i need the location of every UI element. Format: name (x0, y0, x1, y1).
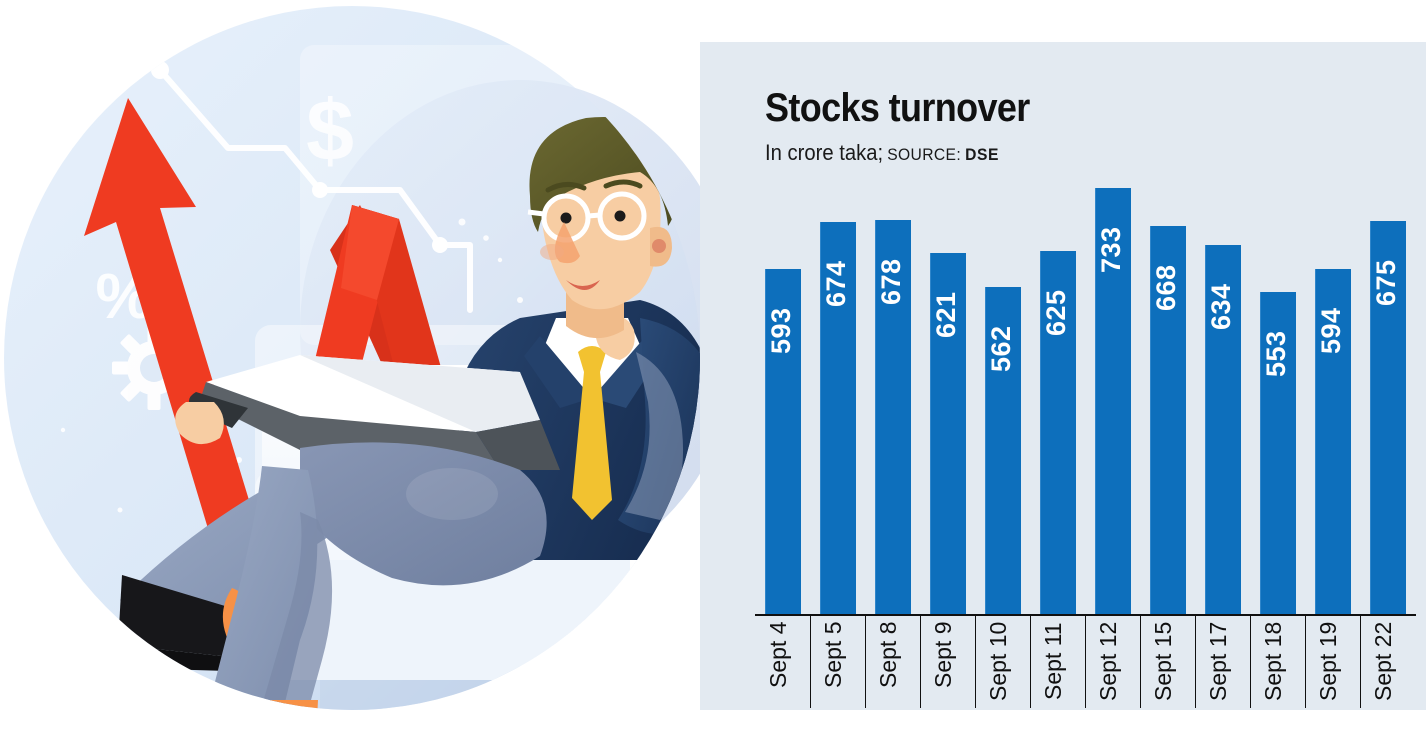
x-tick-separator (1085, 616, 1086, 708)
bar-slot: 621 (930, 172, 966, 614)
bar-value-label: 621 (931, 265, 967, 365)
x-tick-separator (810, 616, 811, 708)
x-tick-label: Sept 11 (1040, 622, 1076, 752)
bar-value-label: 553 (1261, 304, 1297, 404)
bar-slot: 625 (1040, 172, 1076, 614)
bar-slot: 553 (1260, 172, 1296, 614)
bar-sept-12[interactable]: 733 (1095, 188, 1131, 614)
bar-value-label: 674 (821, 234, 857, 334)
x-tick-separator (1360, 616, 1361, 708)
bar-sept-4[interactable]: 593 (765, 269, 801, 614)
bar-value-label: 675 (1371, 233, 1407, 333)
x-tick-label: Sept 15 (1150, 622, 1186, 752)
bar-sept-22[interactable]: 675 (1370, 221, 1406, 614)
bar-sept-5[interactable]: 674 (820, 222, 856, 614)
x-tick-label: Sept 12 (1095, 622, 1131, 752)
bar-sept-19[interactable]: 594 (1315, 269, 1351, 614)
page-title: Stocks turnover (765, 86, 1030, 131)
x-tick-separator (1305, 616, 1306, 708)
bar-value-label: 593 (766, 281, 802, 381)
bar-value-label: 733 (1096, 200, 1132, 300)
bar-sept-8[interactable]: 678 (875, 220, 911, 614)
bar-sept-11[interactable]: 625 (1040, 251, 1076, 614)
x-axis-tick-group: Sept 4Sept 5Sept 8Sept 9Sept 10Sept 11Se… (755, 616, 1416, 752)
stocks-turnover-chart-panel: Stocks turnover In crore taka; SOURCE: D… (700, 42, 1426, 710)
bar-value-label: 625 (1041, 263, 1077, 363)
x-tick-separator (1140, 616, 1141, 708)
x-tick-separator (1250, 616, 1251, 708)
infographic-root: $ % (0, 0, 1426, 755)
bar-chart-plot-area: 593674678621562625733668634553594675 (755, 172, 1415, 614)
x-tick-label: Sept 22 (1370, 622, 1406, 752)
bar-sept-18[interactable]: 553 (1260, 292, 1296, 614)
bar-slot: 675 (1370, 172, 1406, 614)
x-tick-label: Sept 4 (765, 622, 801, 752)
bar-slot: 674 (820, 172, 856, 614)
bar-sept-15[interactable]: 668 (1150, 226, 1186, 614)
bar-value-label: 668 (1151, 238, 1187, 338)
x-tick-separator (975, 616, 976, 708)
bar-sept-17[interactable]: 634 (1205, 245, 1241, 614)
bar-slot: 594 (1315, 172, 1351, 614)
bar-slot: 678 (875, 172, 911, 614)
x-tick-separator (920, 616, 921, 708)
x-tick-label: Sept 10 (985, 622, 1021, 752)
bar-slot: 593 (765, 172, 801, 614)
x-tick-separator (1030, 616, 1031, 708)
bar-slot: 634 (1205, 172, 1241, 614)
bar-value-label: 634 (1206, 257, 1242, 357)
x-tick-separator (865, 616, 866, 708)
subtitle-units: In crore taka; (765, 140, 883, 165)
chart-subtitle: In crore taka; SOURCE: DSE (765, 140, 999, 166)
bar-slot: 668 (1150, 172, 1186, 614)
subtitle-source-value: DSE (965, 145, 999, 164)
bar-value-label: 594 (1316, 281, 1352, 381)
x-tick-label: Sept 9 (930, 622, 966, 752)
bar-sept-10[interactable]: 562 (985, 287, 1021, 614)
x-tick-separator (1195, 616, 1196, 708)
x-tick-label: Sept 8 (875, 622, 911, 752)
illustration-svg: $ % (0, 0, 760, 755)
bar-slot: 733 (1095, 172, 1131, 614)
svg-text:$: $ (306, 83, 354, 179)
bar-slot: 562 (985, 172, 1021, 614)
bar-sept-9[interactable]: 621 (930, 253, 966, 614)
subtitle-source-label: SOURCE: (887, 145, 961, 164)
dollar-icon: $ (306, 83, 354, 179)
bar-value-label: 562 (986, 299, 1022, 399)
x-tick-label: Sept 5 (820, 622, 856, 752)
bar-value-label: 678 (876, 232, 912, 332)
x-tick-label: Sept 17 (1205, 622, 1241, 752)
x-tick-label: Sept 18 (1260, 622, 1296, 752)
x-tick-label: Sept 19 (1315, 622, 1351, 752)
businessman-reading-book-illustration: $ % (0, 0, 760, 755)
